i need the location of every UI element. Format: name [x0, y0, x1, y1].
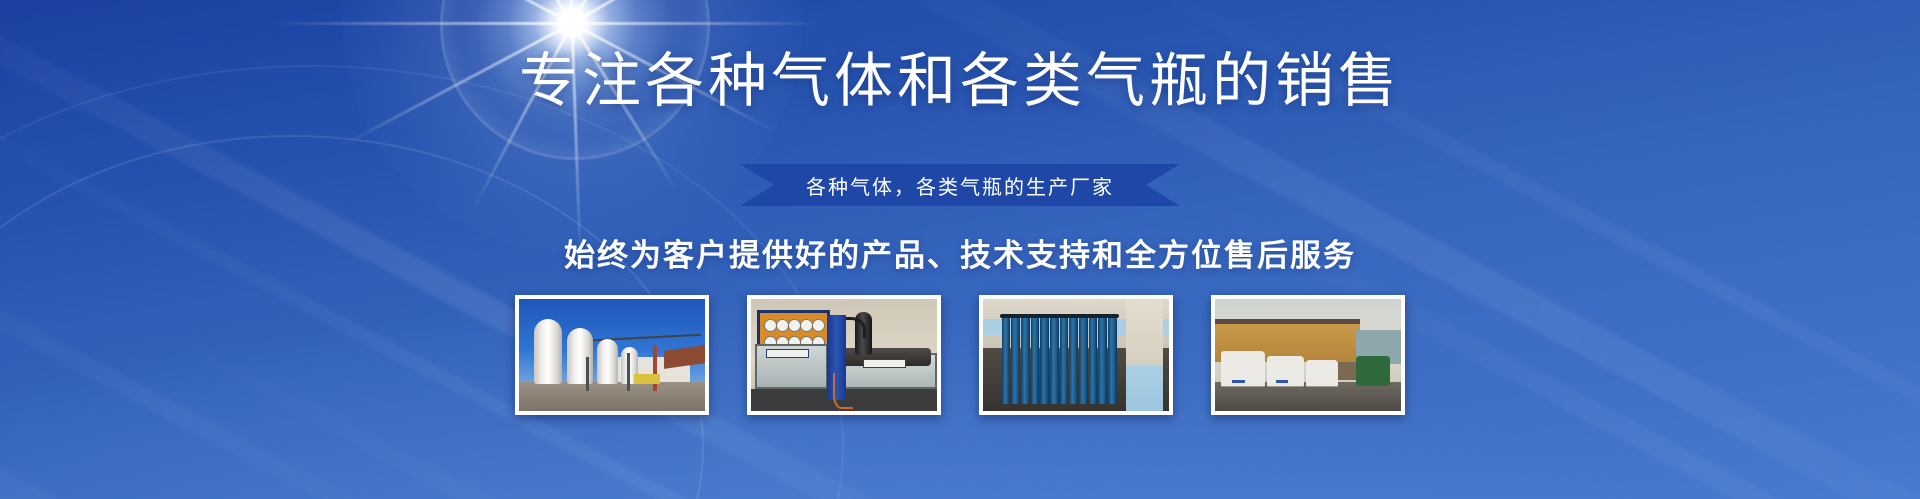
- hero-banner: 专注各种气体和各类气瓶的销售 各种气体，各类气瓶的生产厂家 始终为客户提供好的产…: [0, 0, 1920, 499]
- photo-storage-tanks-image: [519, 299, 705, 411]
- banner-subline: 始终为客户提供好的产品、技术支持和全方位售后服务: [0, 230, 1920, 275]
- photo-strip: [0, 295, 1920, 415]
- photo-test-bench[interactable]: [747, 295, 941, 415]
- banner-ribbon-wrapper: 各种气体，各类气瓶的生产厂家: [0, 164, 1920, 206]
- banner-headline: 专注各种气体和各类气瓶的销售: [0, 52, 1920, 111]
- photo-truck-fleet[interactable]: [1211, 295, 1405, 415]
- photo-truck-fleet-image: [1215, 299, 1401, 411]
- banner-content: 专注各种气体和各类气瓶的销售 各种气体，各类气瓶的生产厂家 始终为客户提供好的产…: [0, 0, 1920, 499]
- banner-ribbon: 各种气体，各类气瓶的生产厂家: [740, 164, 1180, 206]
- photo-gas-cylinders[interactable]: [979, 295, 1173, 415]
- photo-gas-cylinders-image: [983, 299, 1169, 411]
- photo-storage-tanks[interactable]: [515, 295, 709, 415]
- photo-test-bench-image: [751, 299, 937, 411]
